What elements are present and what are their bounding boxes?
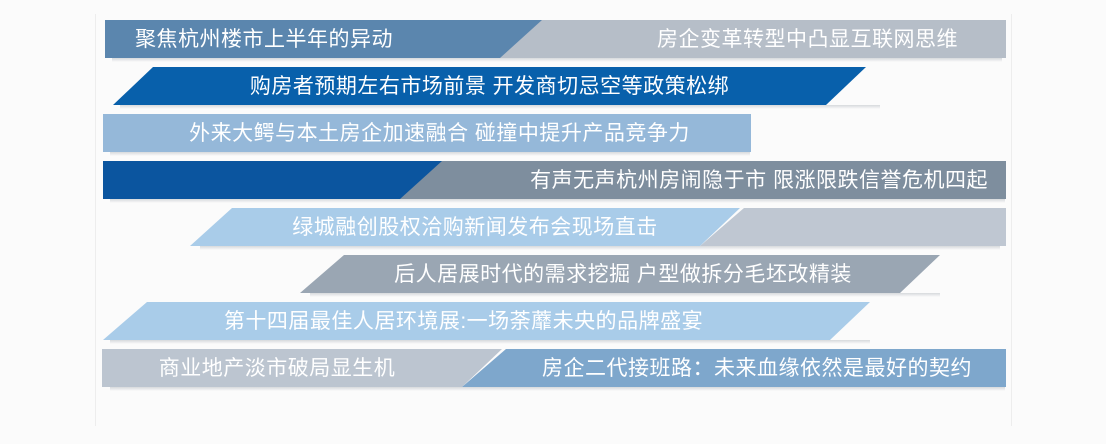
banner-label-r8s1: 商业地产淡市破局显生机 — [159, 358, 396, 379]
row-3-shadow — [110, 152, 750, 156]
banner-segment-r5s2[interactable] — [700, 208, 1006, 246]
banner-segment-r8s1[interactable]: 商业地产淡市破局显生机 — [102, 349, 502, 387]
banner-segment-r4s2[interactable]: 有声无声杭州房闹隐于市 限涨限跌信誉危机四起 — [400, 161, 1006, 199]
banner-label-r5s1: 绿城融创股权洽购新闻发布会现场直击 — [292, 217, 658, 238]
banner-segment-r2s1[interactable]: 购房者预期左右市场前景 开发商切忌空等政策松绑 — [113, 67, 866, 105]
banner-segment-r8s2[interactable]: 房企二代接班路：未来血缘依然是最好的契约 — [462, 349, 1006, 387]
banner-segment-r3s1[interactable]: 外来大鳄与本土房企加速融合 碰撞中提升产品竞争力 — [103, 114, 751, 152]
banner-row-1: 聚焦杭州楼市上半年的异动 房企变革转型中凸显互联网思维 — [0, 20, 1106, 58]
row-2-shadow — [120, 105, 880, 109]
banner-label-r2s1: 购房者预期左右市场前景 开发商切忌空等政策松绑 — [250, 76, 729, 97]
banner-segment-r4s1[interactable] — [103, 161, 443, 199]
banner-row-2: 购房者预期左右市场前景 开发商切忌空等政策松绑 — [0, 67, 1106, 105]
banner-label-r1s1: 聚焦杭州楼市上半年的异动 — [135, 29, 393, 50]
banner-row-8: 商业地产淡市破局显生机 房企二代接班路：未来血缘依然是最好的契约 — [0, 349, 1106, 387]
banner-segment-r6s1[interactable]: 后人居展时代的需求挖掘 户型做拆分毛坯改精装 — [300, 255, 940, 293]
banner-segment-r1s2[interactable]: 房企变革转型中凸显互联网思维 — [500, 20, 1006, 58]
banner-segment-r7s1[interactable]: 第十四届最佳人居环境展:一场荼蘼未央的品牌盛宴 — [103, 302, 870, 340]
banner-row-6: 后人居展时代的需求挖掘 户型做拆分毛坯改精装 — [0, 255, 1106, 293]
banner-segment-r5s1[interactable]: 绿城融创股权洽购新闻发布会现场直击 — [190, 208, 740, 246]
banner-label-r6s1: 后人居展时代的需求挖掘 户型做拆分毛坯改精装 — [394, 264, 852, 285]
banner-segment-r1s1[interactable]: 聚焦杭州楼市上半年的异动 — [105, 20, 545, 58]
banner-label-r1s2: 房企变革转型中凸显互联网思维 — [657, 29, 958, 50]
row-4-shadow — [110, 199, 1005, 203]
banner-board: 聚焦杭州楼市上半年的异动 房企变革转型中凸显互联网思维 购房者预期左右市场前景 … — [0, 0, 1106, 444]
banner-label-r3s1: 外来大鳄与本土房企加速融合 碰撞中提升产品竞争力 — [189, 123, 690, 144]
row-1-shadow — [112, 58, 1002, 62]
banner-row-5: 绿城融创股权洽购新闻发布会现场直击 — [0, 208, 1106, 246]
row-7-shadow — [110, 340, 870, 344]
banner-row-3: 外来大鳄与本土房企加速融合 碰撞中提升产品竞争力 — [0, 114, 1106, 152]
banner-label-r7s1: 第十四届最佳人居环境展:一场荼蘼未央的品牌盛宴 — [224, 311, 703, 332]
banner-row-7: 第十四届最佳人居环境展:一场荼蘼未央的品牌盛宴 — [0, 302, 1106, 340]
row-5-shadow — [200, 246, 1000, 250]
banner-label-r8s2: 房企二代接班路：未来血缘依然是最好的契约 — [542, 358, 972, 379]
banner-row-4: 有声无声杭州房闹隐于市 限涨限跌信誉危机四起 — [0, 161, 1106, 199]
row-6-shadow — [310, 293, 940, 297]
row-8-shadow — [110, 387, 1005, 391]
banner-label-r4s2: 有声无声杭州房闹隐于市 限涨限跌信誉危机四起 — [530, 170, 988, 191]
